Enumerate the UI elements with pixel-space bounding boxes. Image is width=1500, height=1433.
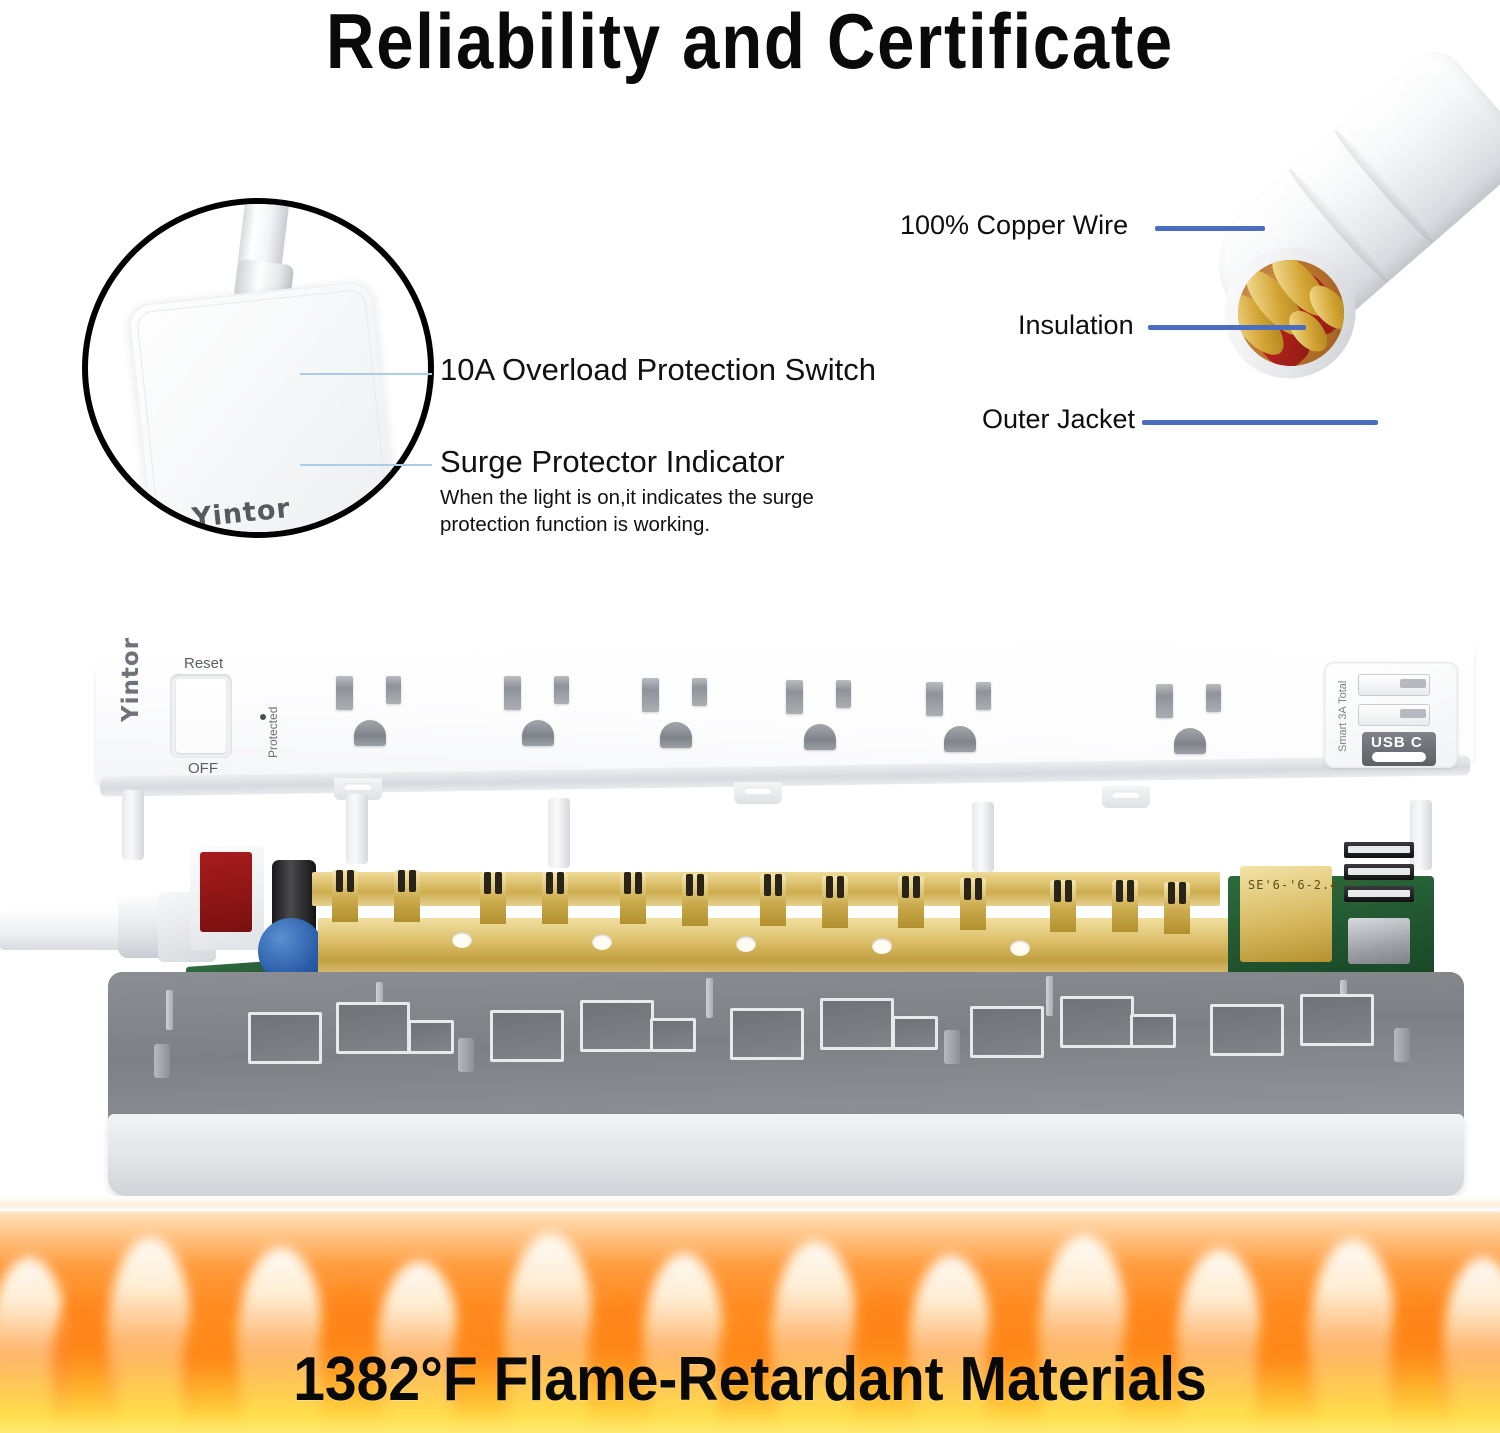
socket-cavity-1 bbox=[248, 1012, 322, 1064]
outlet-slot-left bbox=[504, 676, 521, 710]
infographic-canvas: Reliability and Certificate Yintor OFF R… bbox=[0, 0, 1500, 1433]
outlet-ground-hole bbox=[804, 724, 836, 750]
usb-a-port-1[interactable] bbox=[1358, 674, 1430, 696]
housing-boss-4 bbox=[1394, 1028, 1410, 1062]
cable-label-copper-wire: 100% Copper Wire bbox=[900, 210, 1128, 241]
usb-c-slot-icon bbox=[1372, 752, 1426, 762]
mount-tab-3 bbox=[1102, 786, 1150, 808]
outlet-5[interactable] bbox=[918, 682, 1014, 758]
socket-cavity-2-gnd bbox=[650, 1018, 696, 1052]
internal-usb-a-connector-1 bbox=[1344, 842, 1414, 858]
socket-cavity-4-gnd bbox=[1130, 1014, 1176, 1048]
leader-line-copper-wire bbox=[1155, 226, 1265, 231]
contact-clip-1 bbox=[332, 870, 358, 922]
usb-c-label: USB C bbox=[1371, 734, 1423, 751]
flame-banner-text: 1382°F Flame-Retardant Materials bbox=[60, 1344, 1440, 1415]
outlet-4[interactable] bbox=[778, 680, 874, 756]
outlet-3[interactable] bbox=[634, 678, 730, 754]
callout-sub-surge-line1: When the light is on,it indicates the su… bbox=[440, 484, 814, 511]
internal-usb-a-connector-3 bbox=[1344, 886, 1414, 902]
housing-rib-4 bbox=[1046, 976, 1053, 1016]
usb-smart-total-label: Smart 3A Total bbox=[1337, 681, 1349, 752]
cable-label-outer-jacket: Outer Jacket bbox=[982, 404, 1135, 435]
socket-cavity-10 bbox=[1300, 994, 1374, 1046]
contact-clip-3 bbox=[480, 872, 506, 924]
leader-line-surge-indicator bbox=[300, 464, 432, 466]
contact-clip-9 bbox=[898, 876, 924, 928]
cable-label-insulation: Insulation bbox=[1018, 310, 1134, 341]
outlet-ground-hole bbox=[1174, 728, 1206, 754]
internal-switch-rocker-red bbox=[200, 852, 252, 932]
housing-boss-2 bbox=[458, 1038, 474, 1072]
leader-line-overload-switch bbox=[300, 373, 432, 375]
busbar-hole-3 bbox=[736, 936, 756, 952]
socket-cavity-4 bbox=[580, 1000, 654, 1052]
outlet-slot-left bbox=[1156, 684, 1173, 718]
housing-boss-1 bbox=[154, 1044, 170, 1078]
strip-reset-label: Reset bbox=[184, 655, 223, 672]
socket-cavity-9 bbox=[1210, 1004, 1284, 1056]
internal-usb-a-connector-2 bbox=[1344, 864, 1414, 880]
outlet-1[interactable] bbox=[328, 676, 424, 752]
housing-rib-1 bbox=[166, 990, 173, 1030]
socket-cavity-5 bbox=[730, 1008, 804, 1060]
outlet-slot-right bbox=[976, 682, 991, 710]
contact-clip-8 bbox=[822, 876, 848, 928]
mount-tab-2 bbox=[734, 782, 782, 804]
busbar-hole-1 bbox=[452, 932, 472, 948]
outlet-2[interactable] bbox=[496, 676, 592, 752]
socket-cavity-3 bbox=[490, 1010, 564, 1062]
outlet-slot-right bbox=[836, 680, 851, 708]
contact-clip-5 bbox=[620, 872, 646, 924]
strip-power-switch[interactable] bbox=[176, 679, 226, 753]
contact-clip-11 bbox=[1050, 880, 1076, 932]
contact-clip-4 bbox=[542, 872, 568, 924]
socket-cavity-3-gnd bbox=[892, 1016, 938, 1050]
busbar-hole-2 bbox=[592, 934, 612, 950]
contact-clip-2 bbox=[394, 870, 420, 922]
power-strip-top-cover: Yintor Reset OFF Protected bbox=[96, 648, 1474, 796]
leader-line-outer-jacket bbox=[1142, 420, 1378, 425]
outlet-slot-right bbox=[692, 678, 707, 706]
power-strip-lower-housing bbox=[108, 972, 1464, 1204]
outlet-slot-left bbox=[642, 678, 659, 712]
contact-clip-13 bbox=[1164, 882, 1190, 934]
strip-brand-logo: Yintor bbox=[118, 637, 144, 722]
contact-clip-7 bbox=[760, 874, 786, 926]
outlet-slot-left bbox=[336, 676, 353, 710]
outlet-ground-hole bbox=[944, 726, 976, 752]
outlet-slot-right bbox=[554, 676, 569, 704]
outlet-slot-right bbox=[386, 676, 401, 704]
internal-usb-c-connector bbox=[1348, 918, 1410, 964]
housing-rib-3 bbox=[706, 978, 713, 1018]
cable-cross-section-diagram bbox=[1160, 150, 1500, 480]
leader-line-insulation bbox=[1148, 325, 1306, 330]
housing-boss-3 bbox=[944, 1030, 960, 1064]
socket-cavity-1-gnd bbox=[408, 1020, 454, 1054]
flame-banner: 1382°F Flame-Retardant Materials bbox=[0, 1196, 1500, 1433]
outlet-slot-left bbox=[926, 682, 943, 716]
outlet-slot-right bbox=[1206, 684, 1221, 712]
outlet-ground-hole bbox=[660, 722, 692, 748]
busbar-hole-4 bbox=[872, 938, 892, 954]
strip-protected-label: Protected bbox=[266, 707, 280, 758]
inset-switch-frame bbox=[210, 534, 343, 538]
strip-off-label: OFF bbox=[188, 760, 218, 777]
outlet-ground-hole bbox=[354, 720, 386, 746]
transformer-marking-text: SE'6-'6-2.4.1 bbox=[1248, 878, 1355, 892]
closeup-circle-inset: Yintor OFF Reset Protected bbox=[82, 198, 434, 538]
contact-clip-10 bbox=[960, 878, 986, 930]
socket-cavity-8 bbox=[1060, 996, 1134, 1048]
usb-c-port[interactable]: USB C bbox=[1362, 732, 1436, 766]
flame-tongue-23 bbox=[1444, 1257, 1500, 1433]
socket-cavity-7 bbox=[970, 1006, 1044, 1058]
socket-cavity-6 bbox=[820, 998, 894, 1050]
housing-front-wall bbox=[108, 1114, 1464, 1196]
usb-a-port-2[interactable] bbox=[1358, 704, 1430, 726]
busbar-hole-5 bbox=[1010, 940, 1030, 956]
outlet-6[interactable] bbox=[1148, 684, 1244, 760]
outlet-slot-left bbox=[786, 680, 803, 714]
callout-sub-surge-line2: protection function is working. bbox=[440, 511, 710, 538]
internal-power-cord bbox=[0, 908, 130, 950]
contact-clip-6 bbox=[682, 874, 708, 926]
callout-title-surge-indicator: Surge Protector Indicator bbox=[440, 444, 785, 480]
callout-title-overload-switch: 10A Overload Protection Switch bbox=[440, 352, 876, 388]
outlet-ground-hole bbox=[522, 720, 554, 746]
contact-clip-12 bbox=[1112, 880, 1138, 932]
socket-cavity-2 bbox=[336, 1002, 410, 1054]
page-title: Reliability and Certificate bbox=[105, 0, 1395, 87]
